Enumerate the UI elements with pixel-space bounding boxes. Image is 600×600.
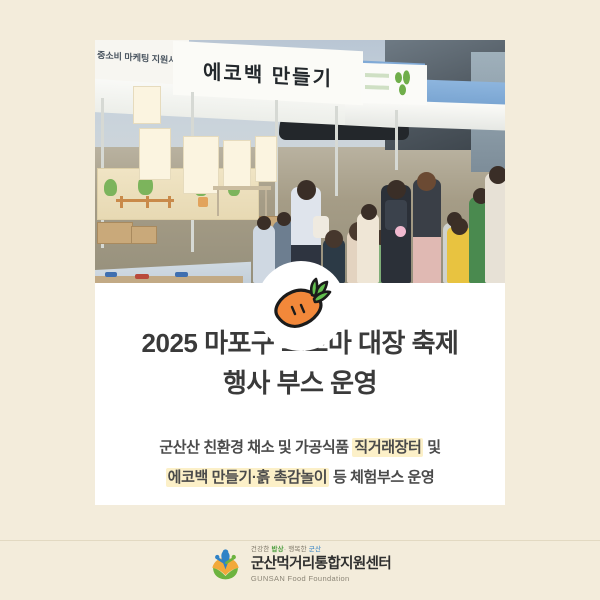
desc1-highlight: 직거래장터 (352, 438, 423, 457)
footer: 건강한 밥상· 행복한 군산 군산먹거리통합지원센터 GUNSAN Food F… (0, 546, 600, 583)
desc1-post: 및 (423, 439, 440, 456)
slogan-d: 군산 (309, 546, 321, 553)
text-card: 2025 마포구 꼬꼬마 대장 축제 행사 부스 운영 군산산 친환경 채소 및… (95, 283, 505, 505)
footer-text: 건강한 밥상· 행복한 군산 군산먹거리통합지원센터 GUNSAN Food F… (251, 546, 391, 583)
foundation-logo-icon (209, 548, 242, 581)
desc1-pre: 군산산 친환경 채소 및 가공식품 (159, 439, 352, 456)
title-line-2: 행사 부스 운영 (95, 363, 505, 403)
carrot-badge (256, 261, 346, 351)
organization-name-en: GUNSAN Food Foundation (251, 574, 391, 583)
festival-photo: 중소비 마케팅 지원사업 에코백 만들기 (95, 40, 505, 283)
description-line-1: 군산산 친환경 채소 및 가공식품 직거래장터 및 (95, 433, 505, 463)
desc2-highlight: 에코백 만들기·흙 촉감놀이 (166, 468, 330, 487)
desc2-post: 등 체험부스 운영 (329, 469, 434, 486)
carrot-icon (270, 277, 332, 335)
photo-banner-right (361, 63, 427, 105)
photo-child (447, 227, 471, 283)
slogan-c: · 행복한 (284, 546, 309, 553)
footer-slogan: 건강한 밥상· 행복한 군산 (251, 546, 391, 554)
footer-divider (0, 540, 600, 541)
photo-table (213, 186, 271, 190)
poster-card: 중소비 마케팅 지원사업 에코백 만들기 (95, 40, 505, 505)
description-line-2: 에코백 만들기·흙 촉감놀이 등 체험부스 운영 (95, 463, 505, 493)
slogan-a: 건강한 (251, 546, 272, 553)
description: 군산산 친환경 채소 및 가공식품 직거래장터 및 에코백 만들기·흙 촉감놀이… (95, 433, 505, 493)
photo-person (485, 173, 505, 283)
photo-banner-main: 에코백 만들기 (173, 41, 363, 106)
organization-name: 군산먹거리통합지원센터 (251, 555, 391, 573)
photo-person (357, 213, 379, 283)
slogan-b: 밥상 (271, 546, 283, 553)
